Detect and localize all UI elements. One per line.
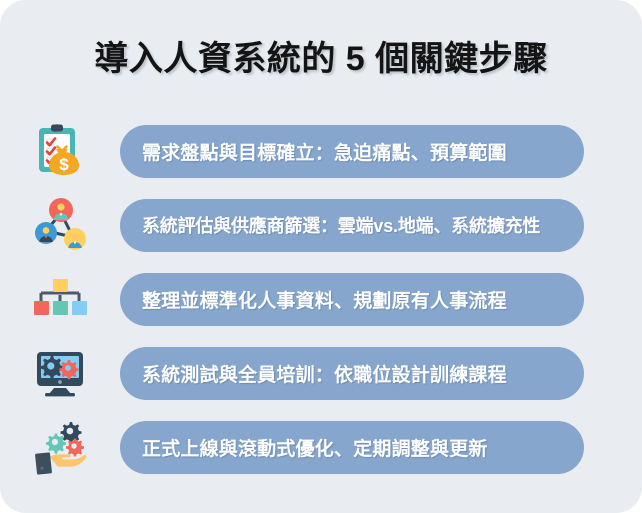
org-chart-hierarchy-icon xyxy=(0,262,120,336)
step-label: 需求盤點與目標確立：急迫痛點、預算範圍 xyxy=(142,138,507,165)
list-item: $ 需求盤點與目標確立：急迫痛點、預算範圍 xyxy=(0,114,642,188)
svg-text:$: $ xyxy=(59,155,69,174)
step-pill: 正式上線與滾動式優化、定期調整與更新 xyxy=(120,421,584,474)
infographic-card: 導入人資系統的 5 個關鍵步驟 xyxy=(0,0,642,513)
step-pill: 需求盤點與目標確立：急迫痛點、預算範圍 xyxy=(120,125,584,178)
list-item: 系統測試與全員培訓：依職位設計訓練課程 xyxy=(0,336,642,410)
step-label: 正式上線與滾動式優化、定期調整與更新 xyxy=(142,434,488,461)
list-item: 正式上線與滾動式優化、定期調整與更新 xyxy=(0,410,642,484)
list-item: 系統評估與供應商篩選：雲端vs.地端、系統擴充性 xyxy=(0,188,642,262)
hand-holding-gears-icon xyxy=(0,410,120,484)
step-pill: 系統評估與供應商篩選：雲端vs.地端、系統擴充性 xyxy=(120,199,584,252)
page-title: 導入人資系統的 5 個關鍵步驟 xyxy=(0,31,642,80)
step-label: 整理並標準化人事資料、規劃原有人事流程 xyxy=(142,286,507,313)
step-label: 系統評估與供應商篩選：雲端vs.地端、系統擴充性 xyxy=(142,212,540,238)
monitor-gears-icon xyxy=(0,336,120,410)
people-network-icon xyxy=(0,188,120,262)
step-pill: 整理並標準化人事資料、規劃原有人事流程 xyxy=(120,273,584,326)
steps-list: $ 需求盤點與目標確立：急迫痛點、預算範圍 xyxy=(0,114,642,484)
clipboard-checklist-money-bag-icon: $ xyxy=(0,114,120,188)
step-pill: 系統測試與全員培訓：依職位設計訓練課程 xyxy=(120,347,584,400)
step-label: 系統測試與全員培訓：依職位設計訓練課程 xyxy=(142,360,507,387)
list-item: 整理並標準化人事資料、規劃原有人事流程 xyxy=(0,262,642,336)
